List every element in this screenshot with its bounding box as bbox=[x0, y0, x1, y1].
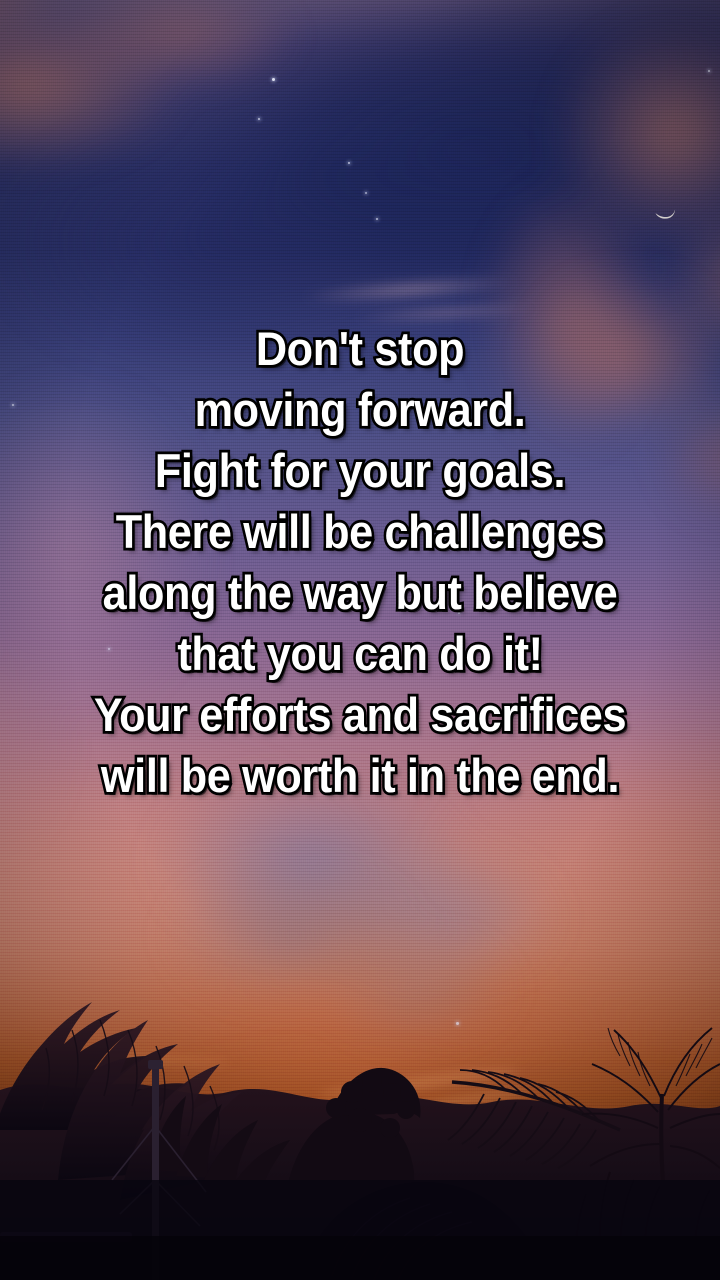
warm-cloud-top-left bbox=[0, 0, 374, 256]
star bbox=[376, 218, 378, 220]
silhouette-artwork bbox=[0, 880, 720, 1280]
foreground-silhouette bbox=[0, 880, 720, 1280]
star bbox=[365, 192, 367, 194]
star bbox=[108, 648, 110, 650]
star bbox=[708, 70, 710, 72]
star bbox=[272, 78, 275, 81]
star bbox=[258, 118, 260, 120]
star bbox=[458, 612, 460, 614]
quote-poster: Don't stop moving forward. Fight for you… bbox=[0, 0, 720, 1280]
star bbox=[12, 404, 14, 406]
star bbox=[348, 162, 350, 164]
